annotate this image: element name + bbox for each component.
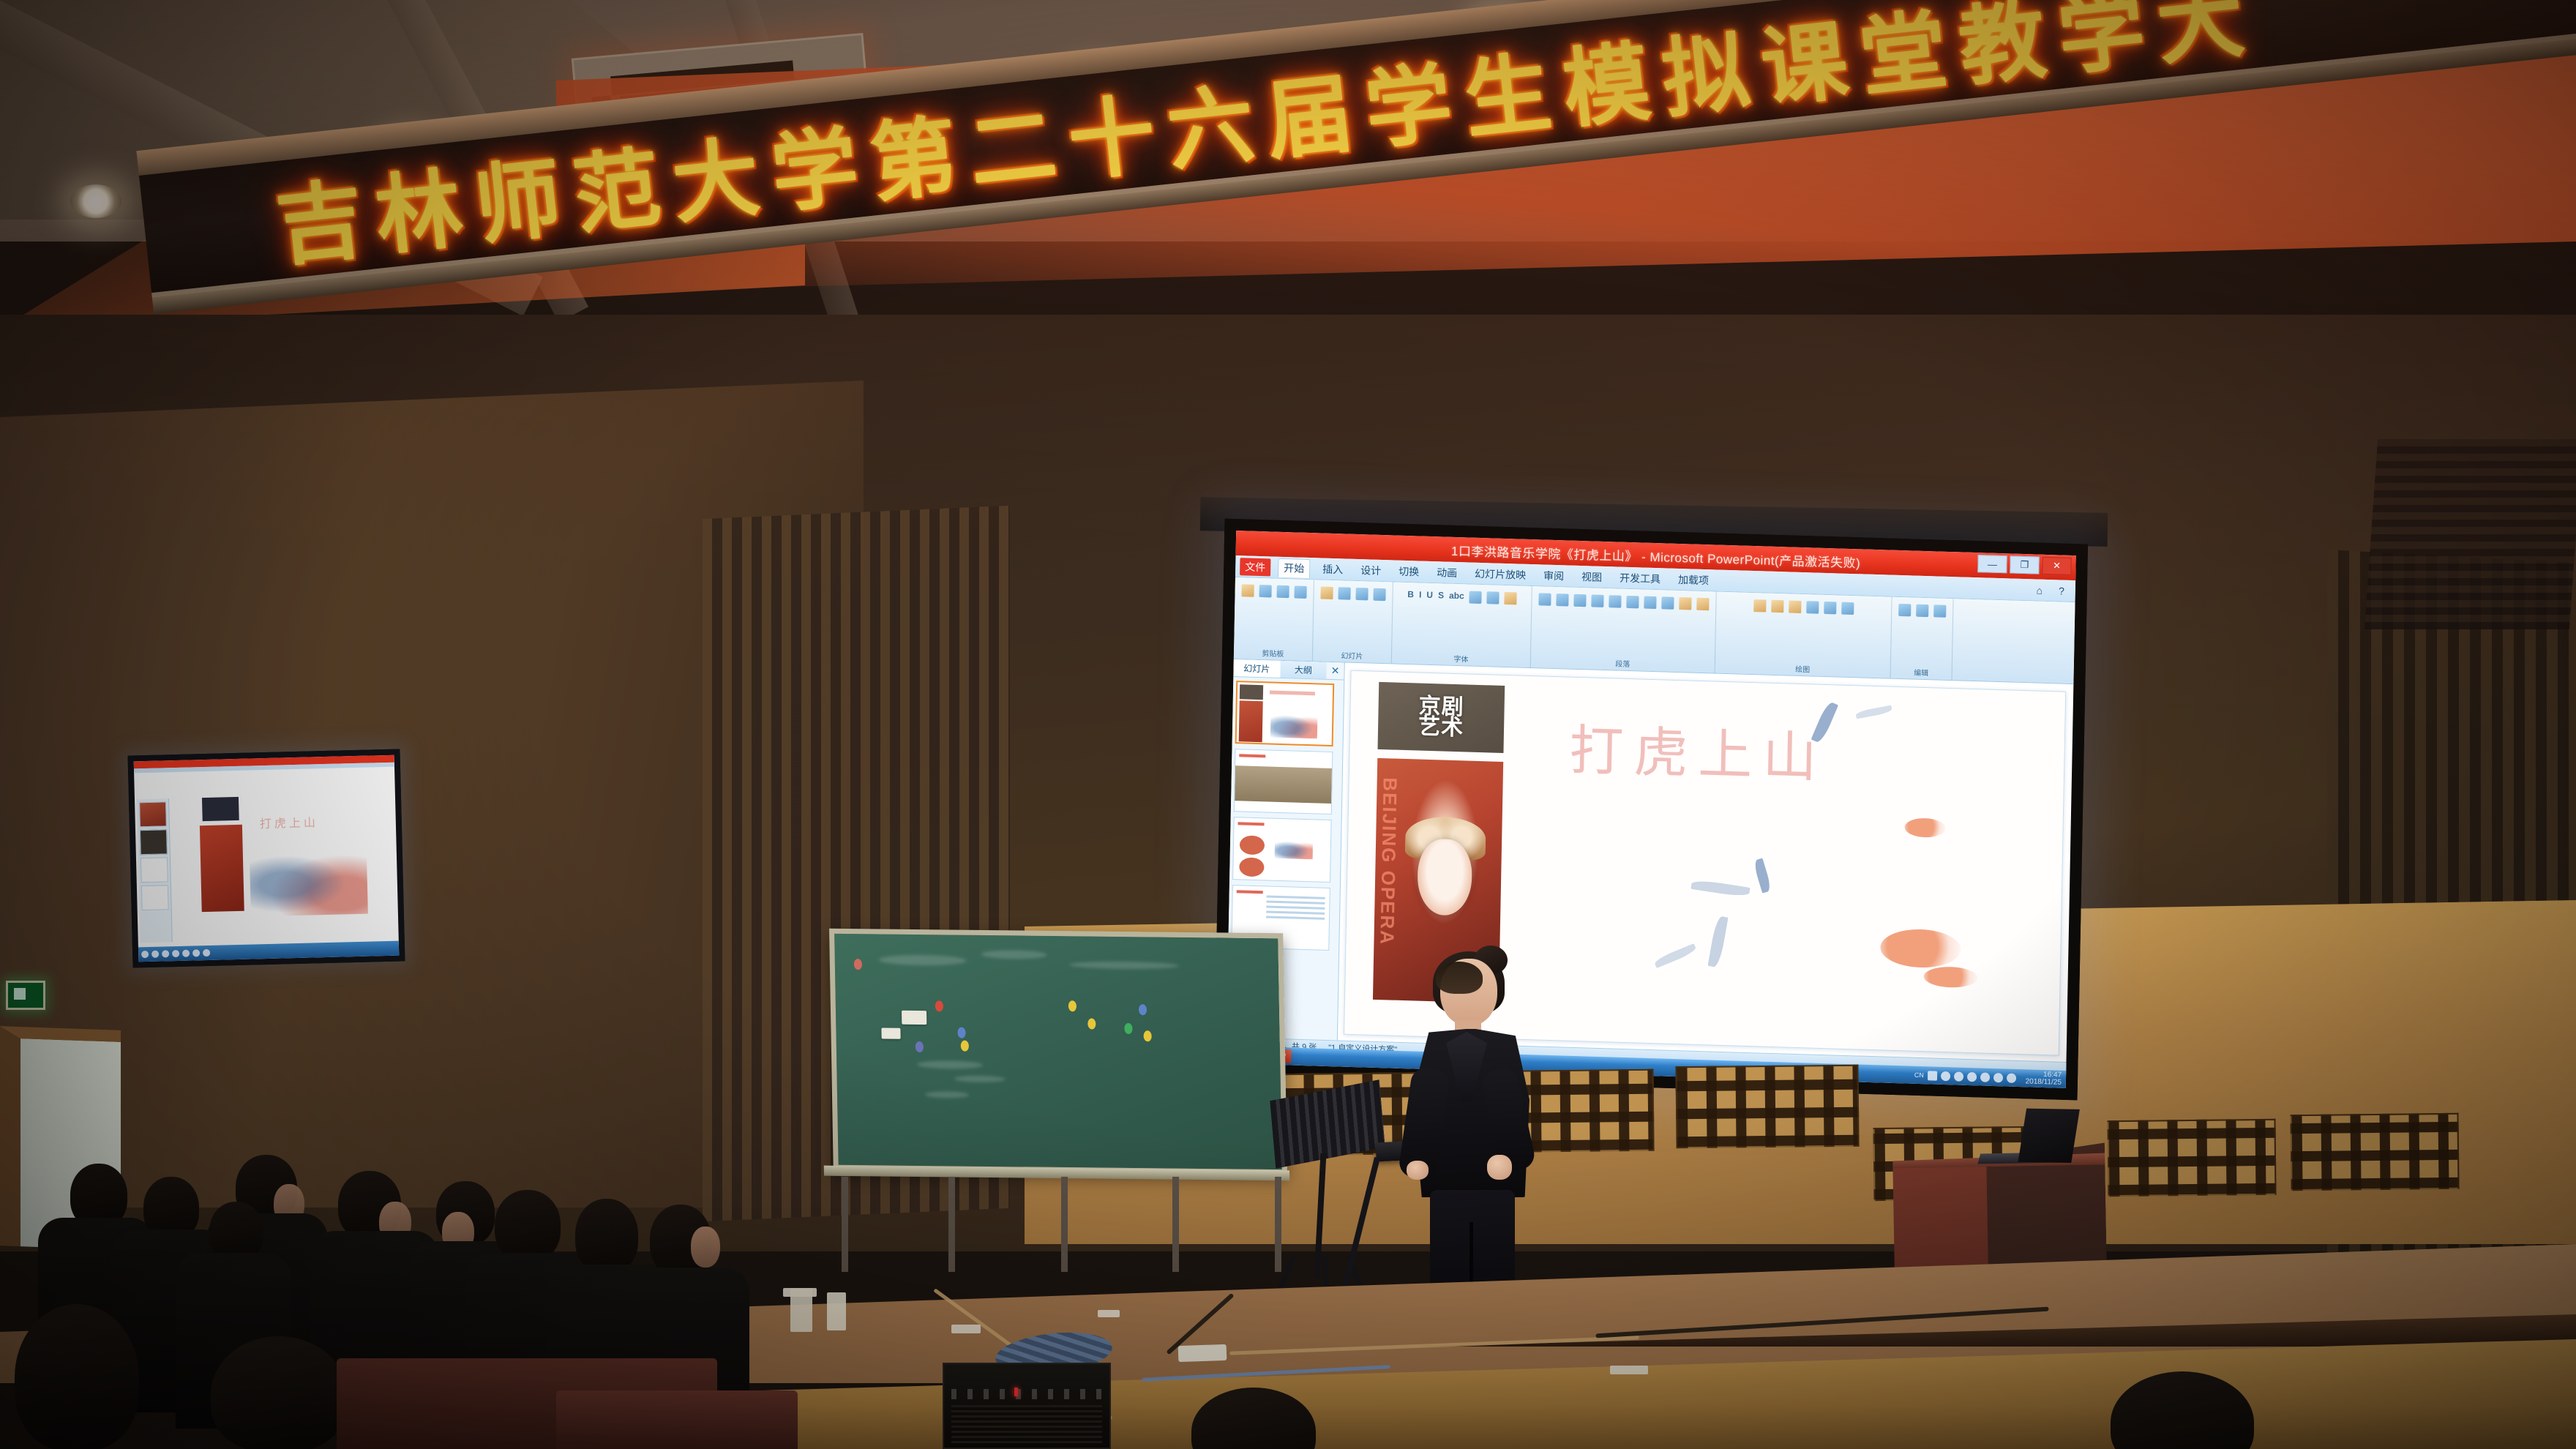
font-size-grow-icon[interactable]: [1469, 591, 1482, 604]
clock-date: 2018/11/25: [2026, 1078, 2062, 1087]
strikethrough-icon[interactable]: abc: [1449, 591, 1464, 602]
auspicious-cloud-motif: [1923, 966, 1978, 988]
audience-foreground-head: [211, 1336, 347, 1449]
board-magnet: [1068, 1000, 1077, 1011]
window-controls[interactable]: — ❐ ✕: [1977, 555, 2071, 575]
presenter-left-hand: [1407, 1161, 1429, 1180]
monitor-taskbar: [138, 941, 399, 962]
numbering-icon[interactable]: [1556, 594, 1568, 607]
acoustic-vent-panel: [2290, 1113, 2459, 1191]
stage-amplifier: [943, 1363, 1111, 1449]
format-painter-icon[interactable]: [1294, 585, 1306, 599]
shapes-icon[interactable]: [1753, 599, 1766, 613]
monitor-thumbnail: [140, 829, 168, 855]
audience-face: [691, 1227, 720, 1268]
section-icon[interactable]: [1373, 588, 1385, 602]
chalk-smudge: [917, 1060, 983, 1069]
thumb-title-bar: [1238, 822, 1264, 825]
auspicious-cloud-motif: [1904, 817, 1945, 838]
ribbon-icons[interactable]: [1538, 590, 1710, 659]
monitor-thumbnail: [141, 857, 168, 883]
thumb-title-bar: [1270, 690, 1315, 695]
green-chalkboard: [829, 929, 1287, 1175]
audience-head: [495, 1190, 561, 1262]
stage-debris: [827, 1292, 846, 1330]
tray-icon[interactable]: [1928, 1071, 1937, 1080]
monitor-screen: 打虎上山: [134, 755, 400, 962]
tab-addins[interactable]: 加载项: [1673, 570, 1714, 589]
help-home-icon[interactable]: ⌂: [2031, 583, 2048, 598]
projection-screen: 1口李洪路音乐学院《打虎上山》 - Microsoft PowerPoint(产…: [1214, 519, 2088, 1101]
ribbon-group-slides[interactable]: 幻灯片: [1313, 580, 1393, 663]
close-button[interactable]: ✕: [2042, 557, 2071, 575]
tab-transitions[interactable]: 切换: [1393, 562, 1424, 580]
ink-brush-stroke: [1708, 916, 1729, 968]
shadow-icon[interactable]: S: [1438, 590, 1444, 600]
ribbon-group-label: 字体: [1453, 653, 1468, 664]
ribbon-group-label: 幻灯片: [1341, 649, 1363, 661]
thumb-artwork: [1275, 839, 1313, 860]
system-tray[interactable]: CN 16:47 2018/11/25: [1914, 1067, 2062, 1087]
slide-thumbnail[interactable]: [1234, 749, 1333, 815]
align-left-icon[interactable]: [1609, 595, 1621, 608]
monitor-slide-logo: [202, 797, 239, 821]
ink-brush-stroke: [1753, 858, 1772, 894]
maximize-button[interactable]: ❐: [2010, 555, 2039, 574]
board-magnet: [854, 959, 862, 970]
board-magnet: [1144, 1030, 1152, 1041]
logo-line-2: 艺术: [1418, 714, 1464, 741]
slide-thumbnail[interactable]: [1235, 681, 1335, 746]
auspicious-cloud-motif: [1880, 928, 1961, 968]
help-icon[interactable]: ?: [2053, 583, 2070, 599]
indent-increase-icon[interactable]: [1591, 594, 1603, 607]
tray-help-icon[interactable]: [1941, 1071, 1950, 1080]
monitor-thumbnail: [141, 885, 169, 910]
layout-icon[interactable]: [1338, 587, 1350, 600]
monitor-slide-artwork: [250, 844, 368, 917]
thumb-circle: [1240, 835, 1265, 855]
chalk-smudge: [879, 954, 967, 965]
new-slide-icon[interactable]: [1320, 586, 1333, 599]
tab-animations[interactable]: 动画: [1431, 563, 1462, 581]
ribbon-icons[interactable]: [1898, 601, 1947, 666]
bold-icon[interactable]: B: [1407, 589, 1414, 599]
slide-thumbnail[interactable]: [1232, 817, 1332, 883]
audience-foreground-head: [15, 1304, 139, 1449]
shape-outline-icon[interactable]: [1824, 602, 1836, 615]
align-right-icon[interactable]: [1644, 596, 1656, 610]
tray-icon[interactable]: [1980, 1072, 1990, 1082]
ink-brush-stroke: [1653, 943, 1697, 968]
ribbon-group-editing[interactable]: 编辑: [1891, 597, 1954, 680]
copy-icon[interactable]: [1276, 585, 1289, 599]
monitor-slide-photo: [200, 825, 244, 912]
cut-icon[interactable]: [1259, 585, 1271, 598]
paste-icon[interactable]: [1241, 584, 1254, 597]
ribbon-icons[interactable]: [1319, 583, 1386, 649]
tab-file[interactable]: 文件: [1240, 558, 1270, 576]
ribbon-group-label: 段落: [1615, 657, 1630, 669]
laptop-screen: [2018, 1109, 2080, 1163]
ime-indicator[interactable]: CN: [1914, 1071, 1924, 1079]
underline-icon[interactable]: U: [1426, 590, 1433, 600]
amp-knob-row: [951, 1389, 1102, 1399]
tab-slides[interactable]: 幻灯片: [1233, 659, 1280, 678]
chalk-smudge: [925, 1091, 969, 1098]
ink-brush-stroke: [1855, 705, 1892, 719]
opera-performer-face: [1417, 839, 1472, 916]
exit-sign-icon: [6, 981, 45, 1010]
ribbon-icons[interactable]: [1240, 581, 1307, 647]
tray-icon[interactable]: [1967, 1071, 1977, 1081]
acoustic-vent-panel: [2107, 1119, 2276, 1197]
tab-outline[interactable]: 大纲: [1280, 661, 1327, 679]
slide-title-text: 打虎上山: [1569, 707, 1828, 793]
board-magnet: [1087, 1018, 1096, 1029]
tray-icon[interactable]: [1954, 1071, 1963, 1081]
find-icon[interactable]: [1898, 604, 1911, 617]
board-magnet: [1124, 1023, 1132, 1034]
select-icon[interactable]: [1933, 604, 1946, 618]
taskbar-clock[interactable]: 16:47 2018/11/25: [2026, 1071, 2062, 1087]
board-magnet: [935, 1000, 943, 1011]
arrange-icon[interactable]: [1771, 600, 1783, 613]
amp-power-led: [1014, 1388, 1018, 1396]
tab-home[interactable]: 开始: [1278, 558, 1310, 577]
align-center-icon[interactable]: [1626, 596, 1639, 609]
chalk-smudge: [981, 950, 1047, 959]
ribbon-group-label: 剪贴板: [1262, 647, 1284, 659]
chalk-smudge: [1069, 961, 1179, 970]
thumb-title-bar: [1239, 754, 1265, 757]
chalk-smudge: [954, 1075, 1006, 1082]
board-magnet: [1139, 1004, 1147, 1015]
close-pane-icon[interactable]: ✕: [1326, 662, 1344, 680]
jingju-art-logo: 京剧 艺术: [1378, 682, 1505, 753]
monitor-thumbnail-pane: [137, 798, 173, 943]
ribbon-icons[interactable]: B I U S abc: [1407, 586, 1517, 653]
ribbon-group-label: 编辑: [1914, 667, 1928, 678]
thumb-text-lines: [1266, 895, 1325, 922]
shape-effects-icon[interactable]: [1841, 602, 1854, 615]
tray-network-icon[interactable]: [2007, 1073, 2016, 1082]
bullets-icon[interactable]: [1538, 593, 1551, 606]
shape-fill-icon[interactable]: [1806, 601, 1819, 614]
wall-preview-monitor: 打虎上山: [128, 749, 405, 967]
ribbon-icons[interactable]: [1753, 596, 1854, 663]
power-strip: [1178, 1344, 1227, 1362]
columns-icon[interactable]: [1679, 597, 1691, 610]
board-magnet: [957, 1027, 965, 1038]
quick-styles-icon[interactable]: [1789, 600, 1801, 613]
board-eraser: [881, 1027, 900, 1038]
ribbon-group-font[interactable]: B I U S abc 字体: [1392, 582, 1532, 667]
amp-grille: [951, 1405, 1102, 1443]
minimize-button[interactable]: —: [1977, 555, 2007, 573]
replace-icon[interactable]: [1916, 604, 1928, 618]
presenter-right-hand: [1487, 1155, 1512, 1180]
ink-brush-stroke: [1690, 879, 1750, 898]
stage-debris: [1610, 1366, 1648, 1374]
acoustic-vent-panel: [1675, 1065, 1859, 1149]
chalkboard-legs: [842, 1177, 1281, 1272]
audience-seat-row: [556, 1390, 798, 1449]
tab-developer[interactable]: 开发工具: [1614, 569, 1666, 588]
audience-head: [575, 1199, 638, 1273]
text-direction-icon[interactable]: [1696, 598, 1709, 611]
tab-insert[interactable]: 插入: [1317, 560, 1348, 578]
ribbon-group-paragraph[interactable]: 段落: [1531, 586, 1717, 673]
board-magnet: [916, 1041, 924, 1052]
auditorium-scene: 吉林师范大学第二十六届学生模拟课堂教学大 1口李洪路音乐学院《打虎上山》 - M…: [0, 0, 2576, 1449]
thumb-circle: [1239, 857, 1264, 877]
reset-icon[interactable]: [1355, 588, 1368, 601]
board-magnet: [961, 1041, 969, 1052]
tab-slideshow[interactable]: 幻灯片放映: [1469, 564, 1531, 583]
thumb-photo: [1239, 700, 1263, 742]
ribbon-group-label: 绘图: [1795, 663, 1810, 675]
tab-review[interactable]: 审阅: [1538, 566, 1569, 585]
ceiling-downlight: [70, 184, 121, 218]
tray-volume-icon[interactable]: [1993, 1073, 2003, 1082]
ribbon-group-drawing[interactable]: 绘图: [1715, 592, 1892, 678]
beijing-opera-caption: BEIJING OPERA: [1375, 777, 1401, 946]
italic-icon[interactable]: I: [1419, 589, 1422, 599]
stage-debris: [951, 1325, 981, 1333]
monitor-slide-title: 打虎上山: [260, 812, 319, 831]
tab-design[interactable]: 设计: [1355, 561, 1386, 579]
thumb-artwork: [1270, 713, 1318, 739]
thumb-logo: [1240, 684, 1263, 700]
font-color-icon[interactable]: [1505, 592, 1517, 605]
monitor-thumbnail: [139, 801, 167, 827]
board-eraser: [902, 1011, 926, 1025]
line-spacing-icon[interactable]: [1661, 596, 1674, 610]
indent-decrease-icon[interactable]: [1573, 594, 1586, 607]
presenter-fringe: [1436, 962, 1483, 994]
wall-slat-panel: [2365, 439, 2576, 629]
font-size-shrink-icon[interactable]: [1487, 591, 1499, 604]
thumb-title-bar: [1237, 890, 1263, 894]
tab-view[interactable]: 视图: [1576, 567, 1607, 585]
projected-desktop: 1口李洪路音乐学院《打虎上山》 - Microsoft PowerPoint(产…: [1226, 531, 2076, 1088]
thumb-image-band: [1235, 765, 1332, 804]
stage-debris: [1098, 1310, 1120, 1317]
ribbon-group-clipboard[interactable]: 剪贴板: [1234, 577, 1314, 661]
